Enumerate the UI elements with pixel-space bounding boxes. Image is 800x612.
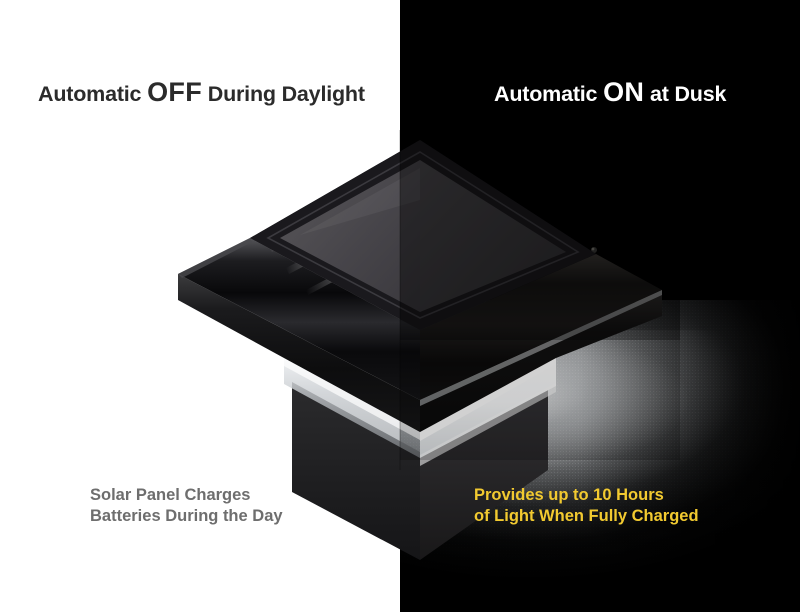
daylight-headline-prefix: Automatic [38, 82, 147, 106]
night-caption-line2: of Light When Fully Charged [474, 506, 699, 527]
night-headline-emphasis: ON [603, 77, 644, 107]
product-comparison-image: Automatic OFF During Daylight Automatic … [0, 0, 800, 612]
daylight-headline-suffix: During Daylight [202, 82, 365, 106]
night-headline: Automatic ON at Dusk [494, 77, 726, 108]
daylight-caption-line2: Batteries During the Day [90, 506, 283, 527]
daylight-headline: Automatic OFF During Daylight [38, 77, 365, 108]
night-caption: Provides up to 10 Hours of Light When Fu… [474, 485, 699, 527]
daylight-headline-emphasis: OFF [147, 77, 202, 107]
night-headline-suffix: at Dusk [644, 82, 726, 106]
night-caption-line1: Provides up to 10 Hours [474, 485, 699, 506]
night-headline-prefix: Automatic [494, 82, 603, 106]
daylight-caption-line1: Solar Panel Charges [90, 485, 283, 506]
daylight-caption: Solar Panel Charges Batteries During the… [90, 485, 283, 527]
